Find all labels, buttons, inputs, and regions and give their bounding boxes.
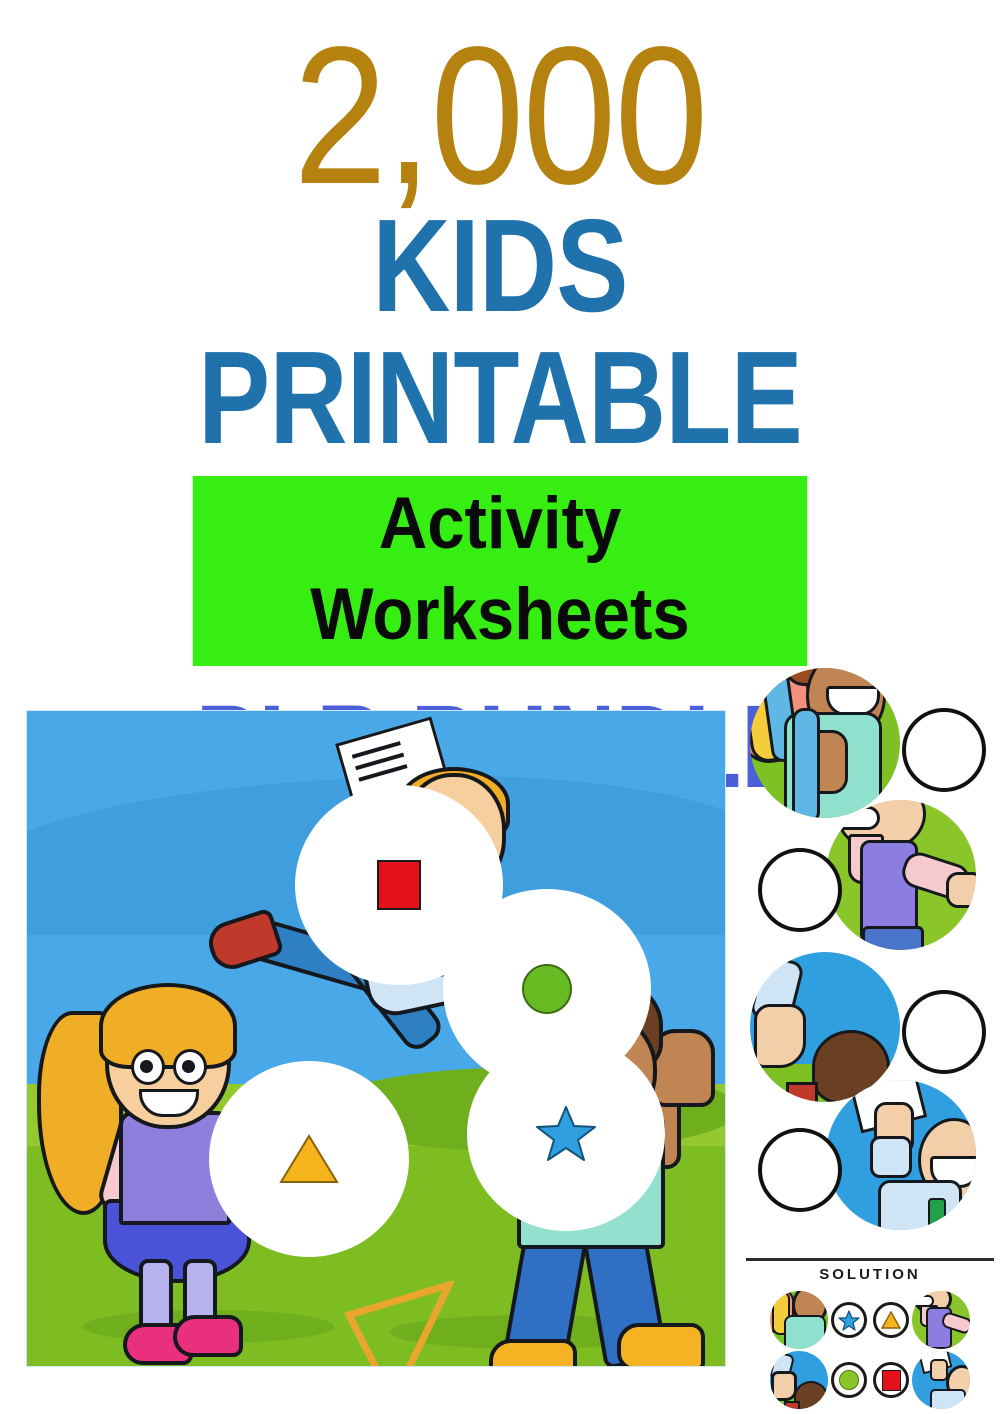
boy-tie-paper (928, 1198, 946, 1230)
solution-thumb-boy-backpack (770, 1291, 828, 1349)
kids-printable-title: KIDS PRINTABLE (90, 200, 910, 464)
solution-badge-triangle (873, 1302, 909, 1338)
solution-row-1 (744, 1292, 996, 1348)
answer-circle-4[interactable] (758, 1128, 842, 1212)
circle-icon (839, 1370, 859, 1390)
boy-waving-shoe-left (489, 1339, 577, 1367)
solution-badge-square (873, 1362, 909, 1398)
mini-boy-shirt (784, 1315, 826, 1349)
bubble-yellow-triangle (209, 1061, 409, 1257)
boy-waving-shoe-right (617, 1323, 705, 1367)
triangle-icon (880, 1310, 902, 1330)
solution-thumb-boy-vest (912, 1291, 970, 1349)
thumb-boy-vest (826, 800, 976, 950)
backpack-shoulder-strap (792, 708, 820, 818)
square-icon (377, 860, 421, 910)
red-book (786, 1082, 818, 1102)
star-icon (535, 1104, 597, 1164)
mini-boy-shirt-paper (930, 1389, 966, 1409)
count-title: 2,000 (70, 0, 930, 206)
cuff (870, 1136, 912, 1178)
circle-icon (522, 964, 572, 1014)
main-worksheet-preview (26, 710, 726, 1367)
solution-divider (746, 1258, 994, 1261)
solution-thumb-boy-paper (912, 1351, 970, 1409)
star-icon (838, 1310, 860, 1331)
girl-eye-right (173, 1049, 207, 1085)
bubble-blue-star (467, 1037, 665, 1231)
thumb-boy-paper (826, 1080, 976, 1230)
thumb-boy-backpack (750, 668, 900, 818)
highlight-bar-wrap: Activity Worksheets (0, 476, 1000, 666)
solution-thumb-arm-pointing (770, 1351, 828, 1409)
boy-open-mouth (830, 806, 880, 830)
answer-circle-3[interactable] (902, 990, 986, 1074)
triangle-icon (278, 1132, 340, 1186)
mini-red-book (784, 1401, 800, 1409)
solution-badge-star (831, 1302, 867, 1338)
activity-worksheets-highlight: Activity Worksheets (193, 476, 808, 666)
orange-triangle-prop (339, 1281, 459, 1367)
pointing-hand (754, 1004, 806, 1068)
solution-title: SOLUTION (744, 1266, 996, 1283)
mini-holding-hand (930, 1359, 948, 1381)
solution-badge-circle (831, 1362, 867, 1398)
girl-shoe-right (173, 1315, 243, 1357)
answer-circle-1[interactable] (902, 708, 986, 792)
solution-row-2 (744, 1352, 996, 1408)
solution-panel: SOLUTION (744, 1258, 996, 1408)
girl-eye-left (131, 1049, 165, 1085)
boy-pants (862, 926, 924, 950)
boy-shirt-paper (878, 1180, 962, 1230)
boy-fist (946, 872, 976, 908)
girl-hair (99, 983, 237, 1069)
answer-circle-2[interactable] (758, 848, 842, 932)
worksheet-thumbnail-column (740, 660, 992, 1240)
square-icon (882, 1370, 901, 1391)
